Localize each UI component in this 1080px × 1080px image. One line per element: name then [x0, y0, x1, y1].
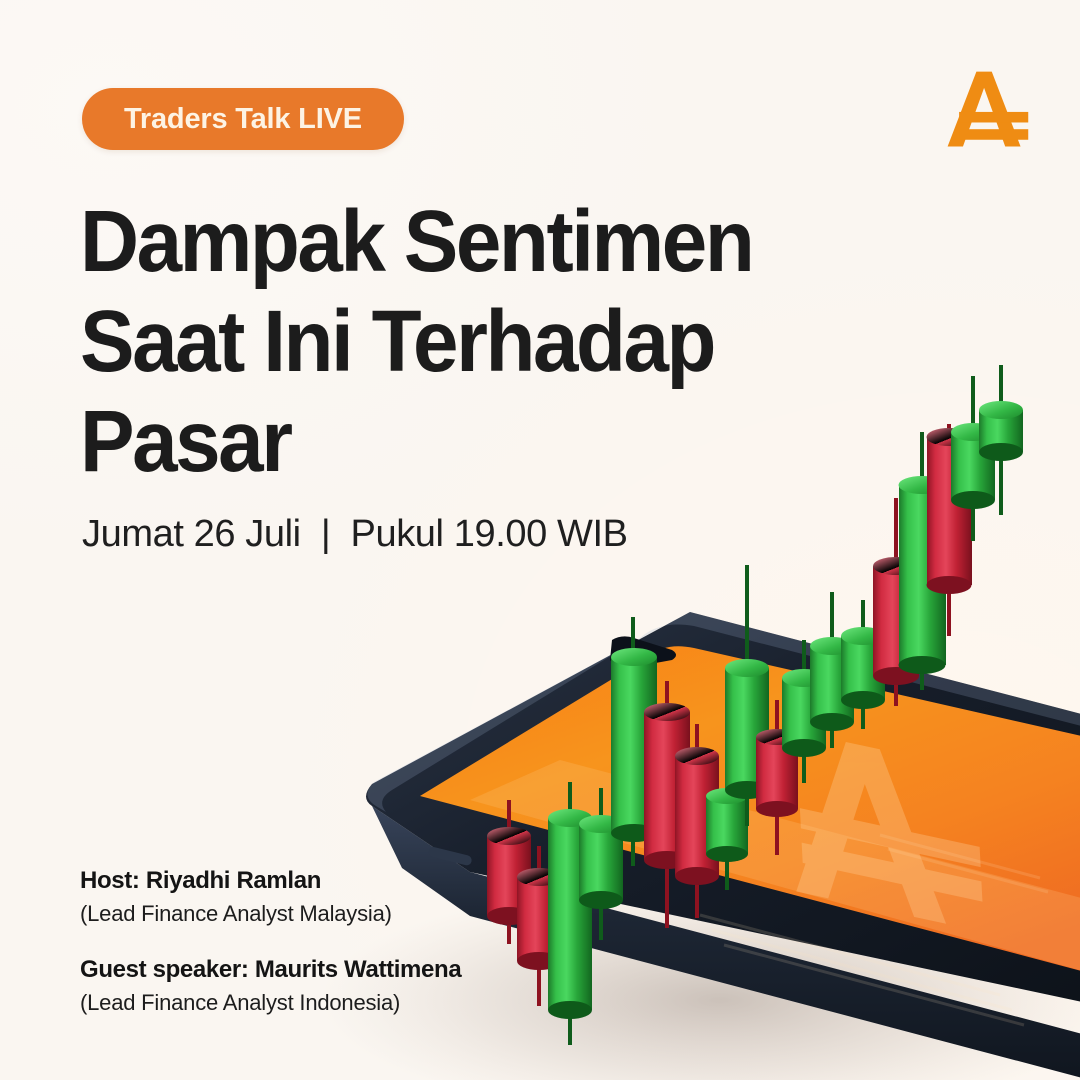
- headline-line-2: Saat Ini Terhadap: [80, 292, 776, 392]
- schedule-line: Jumat 26 Juli | Pukul 19.00 WIB: [82, 513, 628, 556]
- phone-side-button: [428, 846, 473, 866]
- headline-line-1: Dampak Sentimen: [80, 192, 776, 292]
- credit-host: Host: Riyadhi Ramlan (Lead Finance Analy…: [80, 866, 640, 929]
- candle-down-7: [675, 724, 719, 918]
- candle-up-11: [782, 640, 826, 783]
- credit-host-name: Host: Riyadhi Ramlan: [80, 866, 640, 896]
- candle-up-9: [725, 565, 769, 826]
- candle-up-12: [810, 592, 854, 748]
- candle-up-5: [611, 617, 657, 866]
- phone-notch: [610, 636, 676, 668]
- screen-stripes: [700, 835, 1048, 1025]
- headline-line-3: Pasar: [80, 392, 776, 492]
- candle-up-17: [951, 376, 995, 541]
- page-title: Dampak Sentimen Saat Ini Terhadap Pasar: [80, 192, 820, 492]
- brand-a-logo-icon: [938, 62, 1034, 158]
- candle-down-10: [756, 700, 798, 855]
- live-badge: Traders Talk LIVE: [82, 88, 404, 150]
- credit-guest: Guest speaker: Maurits Wattimena (Lead F…: [80, 955, 640, 1018]
- schedule-time: Pukul 19.00 WIB: [351, 513, 628, 555]
- credit-guest-name: Guest speaker: Maurits Wattimena: [80, 955, 640, 985]
- schedule-separator: |: [321, 513, 330, 556]
- credits-block: Host: Riyadhi Ramlan (Lead Finance Analy…: [80, 866, 640, 1018]
- credit-host-role: (Lead Finance Analyst Malaysia): [80, 899, 640, 929]
- live-badge-label: Traders Talk LIVE: [124, 103, 362, 136]
- candle-down-14: [873, 498, 919, 706]
- candle-down-6: [644, 681, 690, 928]
- screen-watermark-logo: [788, 729, 984, 931]
- candle-up-18: [979, 365, 1023, 515]
- credit-guest-role: (Lead Finance Analyst Indonesia): [80, 988, 640, 1018]
- candle-up-13: [841, 600, 885, 729]
- schedule-date: Jumat 26 Juli: [82, 513, 301, 555]
- phone-bezel-highlight: [367, 612, 1080, 812]
- candle-up-15: [899, 432, 947, 690]
- promo-poster: Traders Talk LIVE Dampak Sentimen Saat I…: [0, 0, 1080, 1080]
- candle-down-16: [927, 424, 973, 636]
- candle-up-8: [706, 761, 748, 890]
